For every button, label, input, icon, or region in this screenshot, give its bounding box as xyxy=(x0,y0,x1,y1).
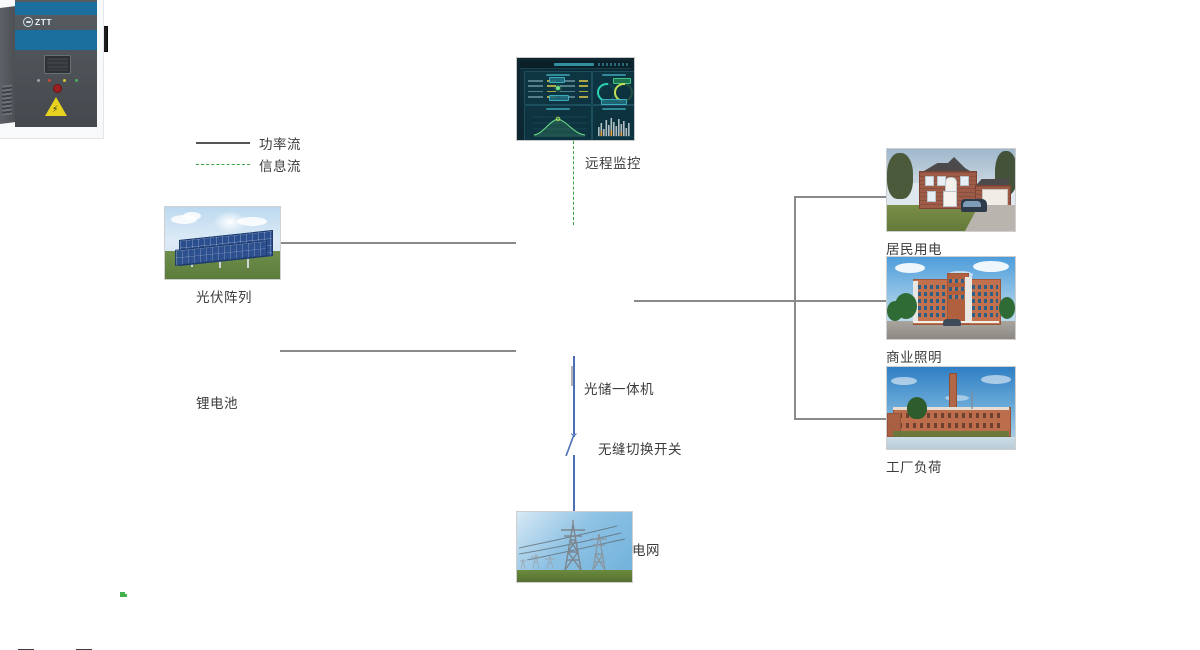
caption-battery: 锂电池 xyxy=(196,392,238,412)
remote-monitoring-dashboard-image xyxy=(516,57,635,141)
brand-text: ZTT xyxy=(35,17,52,27)
cabinet-brand-logo: ZTT xyxy=(23,15,69,29)
caption-commercial-load: 商业照明 xyxy=(886,346,942,366)
legend-item-info-flow: 信息流 xyxy=(196,154,301,176)
grid-image xyxy=(516,511,633,583)
brand-mark-icon xyxy=(23,17,33,27)
diagram-canvas: 功率流 信息流 xyxy=(0,0,1200,650)
led-indicator-4 xyxy=(75,79,78,82)
dashboard-topbar xyxy=(520,61,631,69)
pv-array-image xyxy=(164,206,281,280)
led-indicator-1 xyxy=(37,79,40,82)
image-artifact-speck xyxy=(120,592,125,597)
caption-grid: 电网 xyxy=(632,539,660,559)
caption-inverter: 光储一体机 xyxy=(584,378,654,398)
caption-transfer-switch: 无缝切换开关 xyxy=(598,438,682,458)
caption-remote-monitor: 远程监控 xyxy=(585,152,641,172)
caption-residential-load: 居民用电 xyxy=(886,238,942,258)
dashboard-gauges-panel xyxy=(592,71,635,105)
legend-label-info-flow: 信息流 xyxy=(259,155,301,175)
solid-line-swatch-icon xyxy=(196,138,250,148)
dashboard-overview-panel xyxy=(524,71,592,105)
commercial-load-image xyxy=(886,256,1016,340)
cabinet-display-screen xyxy=(44,55,71,74)
dashboard-curve-chart-panel xyxy=(524,105,592,141)
caption-factory-load: 工厂负荷 xyxy=(886,456,942,476)
led-indicator-2 xyxy=(48,79,51,82)
wire-battery-to-inverter xyxy=(280,350,516,352)
transfer-switch-symbol-icon xyxy=(560,430,590,466)
curve-chart xyxy=(527,113,589,139)
caption-tick-inverter xyxy=(571,366,573,386)
legend-label-power-flow: 功率流 xyxy=(259,133,301,153)
info-flow-line-monitor xyxy=(573,141,574,225)
legend-item-power-flow: 功率流 xyxy=(196,132,301,154)
bar-chart xyxy=(595,113,632,139)
emergency-stop-button[interactable] xyxy=(53,84,62,93)
legend: 功率流 信息流 xyxy=(196,132,301,176)
factory-load-image xyxy=(886,366,1016,450)
wire-bus-to-commercial xyxy=(794,300,887,302)
electrical-hazard-warning-icon xyxy=(45,97,67,116)
dashboard-bar-chart-panel xyxy=(592,105,635,141)
wire-bus-to-factory xyxy=(794,418,887,420)
led-indicator-3 xyxy=(63,79,66,82)
dashed-line-swatch-icon xyxy=(196,160,250,170)
load-bus-vertical xyxy=(794,196,796,419)
wire-pv-to-inverter xyxy=(280,242,516,244)
inverter-cabinet-image: ZTT xyxy=(0,60,99,191)
residential-load-image xyxy=(886,148,1016,232)
wire-inverter-to-switch xyxy=(573,356,575,434)
caption-pv-array: 光伏阵列 xyxy=(196,286,252,306)
wire-bus-to-residential xyxy=(794,196,887,198)
transmission-towers-art xyxy=(517,512,632,582)
